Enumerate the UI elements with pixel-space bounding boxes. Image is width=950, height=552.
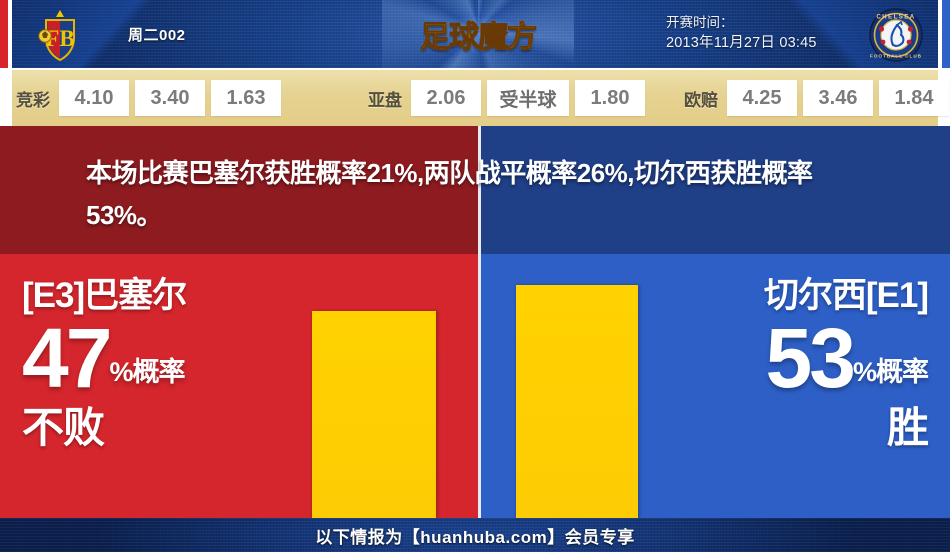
odds-jingcai-home[interactable]: 4.10 — [59, 80, 129, 116]
kickoff-info: 开赛时间： 2013年11月27日 03:45 — [666, 12, 856, 54]
probability-comparison: [E3]巴塞尔 47 %概率 不败 切尔西[E1] 53 %概率 胜 — [0, 254, 950, 518]
odds-yapan-away[interactable]: 1.80 — [575, 80, 645, 116]
away-outcome-label: 胜 — [764, 404, 928, 452]
away-percent-value: 53 — [766, 318, 853, 398]
match-probability-infographic: FB 周二002 足球魔方 开赛时间： 2013年11月27日 03:45 CH… — [0, 0, 950, 552]
home-outcome-label: 不败 — [22, 404, 186, 452]
logo-text-part1: 足球 — [420, 21, 478, 54]
header-right-white-gap — [938, 0, 942, 68]
odds-label-yapan: 亚盘 — [368, 86, 402, 111]
svg-text:FOOTBALL CLUB: FOOTBALL CLUB — [870, 54, 922, 59]
home-team-name: [E3]巴塞尔 — [22, 276, 186, 316]
home-team-block: [E3]巴塞尔 47 %概率 不败 — [22, 276, 186, 452]
home-probability-bar — [312, 311, 436, 518]
odds-group-yapan: 亚盘 2.06 受半球 1.80 — [368, 70, 645, 126]
home-percent-unit: %概率 — [109, 355, 184, 398]
odds-jingcai-draw[interactable]: 3.40 — [135, 80, 205, 116]
home-percent-row: 47 %概率 — [22, 318, 186, 398]
odds-oupei-home[interactable]: 4.25 — [727, 80, 797, 116]
site-logo[interactable]: 足球魔方 — [408, 10, 548, 58]
away-percent-row: 53 %概率 — [764, 318, 928, 398]
header-left-red-edge — [0, 0, 8, 68]
footer-notice-text: 以下情报为【huanhuba.com】会员专享 — [315, 523, 634, 548]
home-percent-value: 47 — [22, 318, 109, 398]
away-percent-unit: %概率 — [853, 355, 928, 398]
odds-yapan-handicap[interactable]: 受半球 — [487, 80, 569, 116]
kickoff-datetime: 2013年11月27日 03:45 — [666, 33, 856, 54]
fc-basel-crest-icon: FB — [32, 8, 88, 62]
odds-oupei-away[interactable]: 1.84 — [879, 80, 949, 116]
logo-text-part3: 方 — [507, 21, 536, 54]
probability-summary-text: 本场比赛巴塞尔获胜概率21%,两队战平概率26%,切尔西获胜概率53%。 — [86, 152, 886, 236]
probability-summary-banner: 本场比赛巴塞尔获胜概率21%,两队战平概率26%,切尔西获胜概率53%。 — [0, 126, 950, 254]
away-probability-bar — [516, 285, 638, 518]
header-bar: FB 周二002 足球魔方 开赛时间： 2013年11月27日 03:45 CH… — [0, 0, 950, 68]
odds-label-oupei: 欧赔 — [684, 86, 718, 111]
main-divider — [478, 254, 481, 518]
odds-jingcai-away[interactable]: 1.63 — [211, 80, 281, 116]
odds-yapan-home[interactable]: 2.06 — [411, 80, 481, 116]
svg-text:CHELSEA: CHELSEA — [876, 14, 915, 21]
odds-bar: 竞彩 4.10 3.40 1.63 亚盘 2.06 受半球 1.80 欧赔 4.… — [0, 68, 950, 126]
site-logo-text: 足球魔方 — [420, 12, 536, 56]
odds-oupei-draw[interactable]: 3.46 — [803, 80, 873, 116]
away-team-name: 切尔西[E1] — [764, 276, 928, 316]
odds-bar-left-margin — [0, 70, 12, 126]
odds-group-oupei: 欧赔 4.25 3.46 1.84 — [684, 70, 949, 126]
away-team-block: 切尔西[E1] 53 %概率 胜 — [764, 276, 928, 452]
match-number: 周二002 — [128, 0, 186, 68]
header-right-blue-edge — [942, 0, 950, 68]
footer-bar: 以下情报为【huanhuba.com】会员专享 — [0, 518, 950, 552]
chelsea-fc-crest-icon: CHELSEA FOOTBALL CLUB — [868, 7, 924, 63]
header-left-white-gap — [8, 0, 12, 68]
odds-group-jingcai: 竞彩 4.10 3.40 1.63 — [16, 70, 281, 126]
kickoff-label: 开赛时间： — [666, 12, 856, 33]
odds-label-jingcai: 竞彩 — [16, 86, 50, 111]
logo-text-accent: 魔 — [478, 21, 507, 54]
